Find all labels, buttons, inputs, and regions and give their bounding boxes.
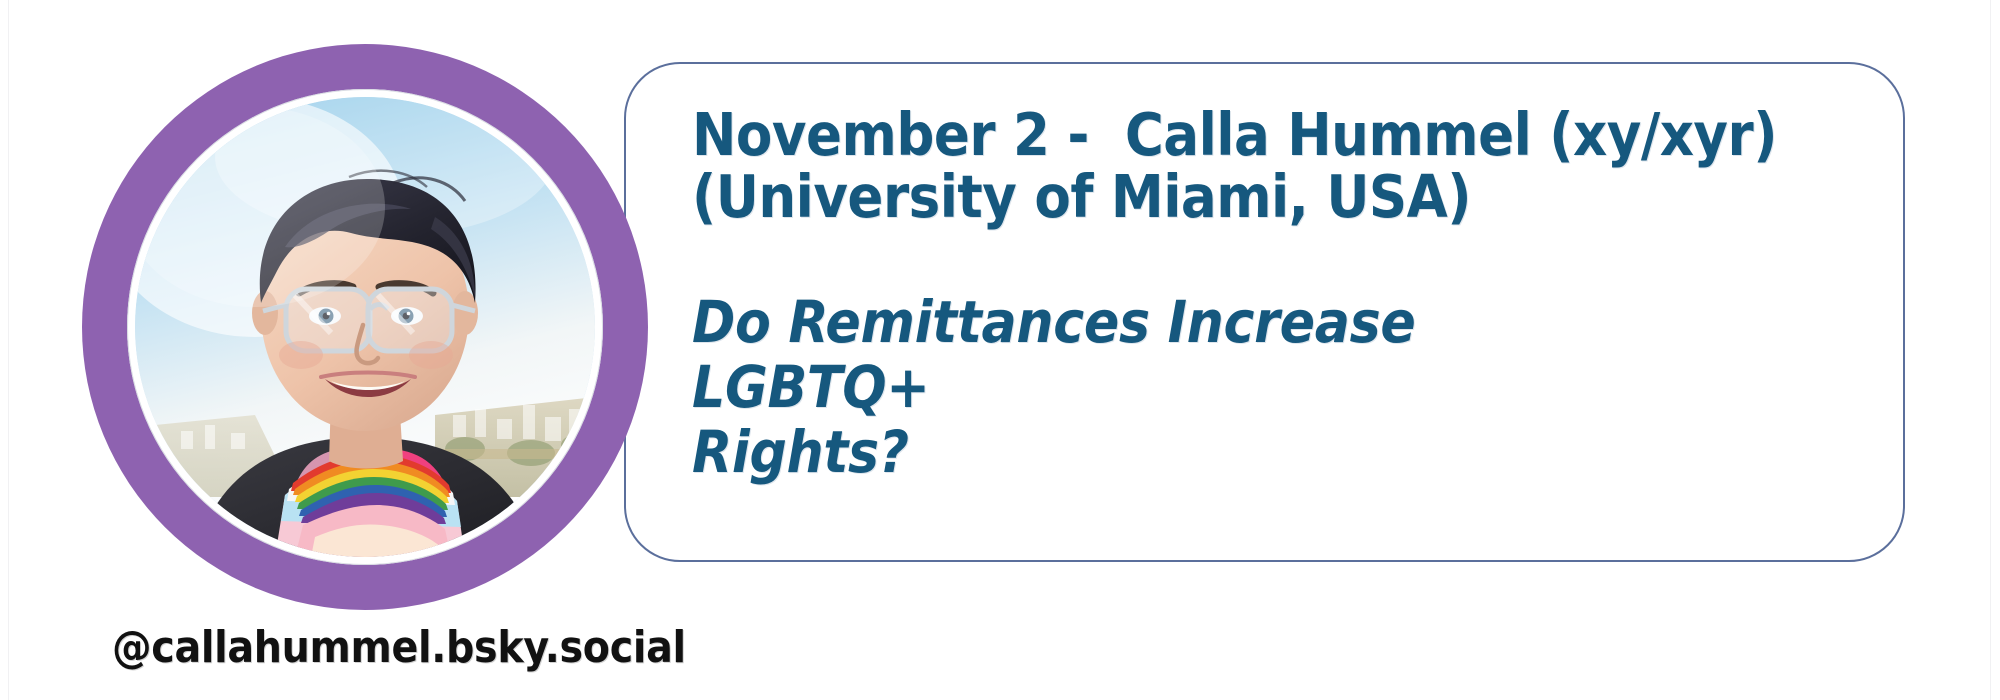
presenter-date-name-pronouns: November 2 - Calla Hummel (xy/xyr) — [692, 104, 1863, 166]
talk-title-line-1: Do Remittances Increase LGBTQ+ — [692, 290, 1572, 420]
avatar — [82, 44, 648, 610]
talk-title: Do Remittances Increase LGBTQ+ Rights? — [692, 290, 1572, 485]
slide-left-edge-guide — [8, 0, 9, 700]
presenter-block: November 2 - Calla Hummel (xy/xyr) (Univ… — [692, 104, 1863, 228]
seminar-announcement-slide: November 2 - Calla Hummel (xy/xyr) (Univ… — [0, 0, 2000, 700]
presenter-affiliation: (University of Miami, USA) — [692, 166, 1863, 228]
bluesky-handle: @callahummel.bsky.social — [112, 622, 686, 673]
announcement-card: November 2 - Calla Hummel (xy/xyr) (Univ… — [624, 62, 1905, 562]
talk-title-line-2: Rights? — [692, 420, 1572, 485]
avatar-photo — [135, 97, 595, 557]
slide-right-edge-guide — [1990, 0, 1991, 700]
card-body: November 2 - Calla Hummel (xy/xyr) (Univ… — [692, 86, 1863, 485]
portrait-illustration — [135, 97, 595, 557]
